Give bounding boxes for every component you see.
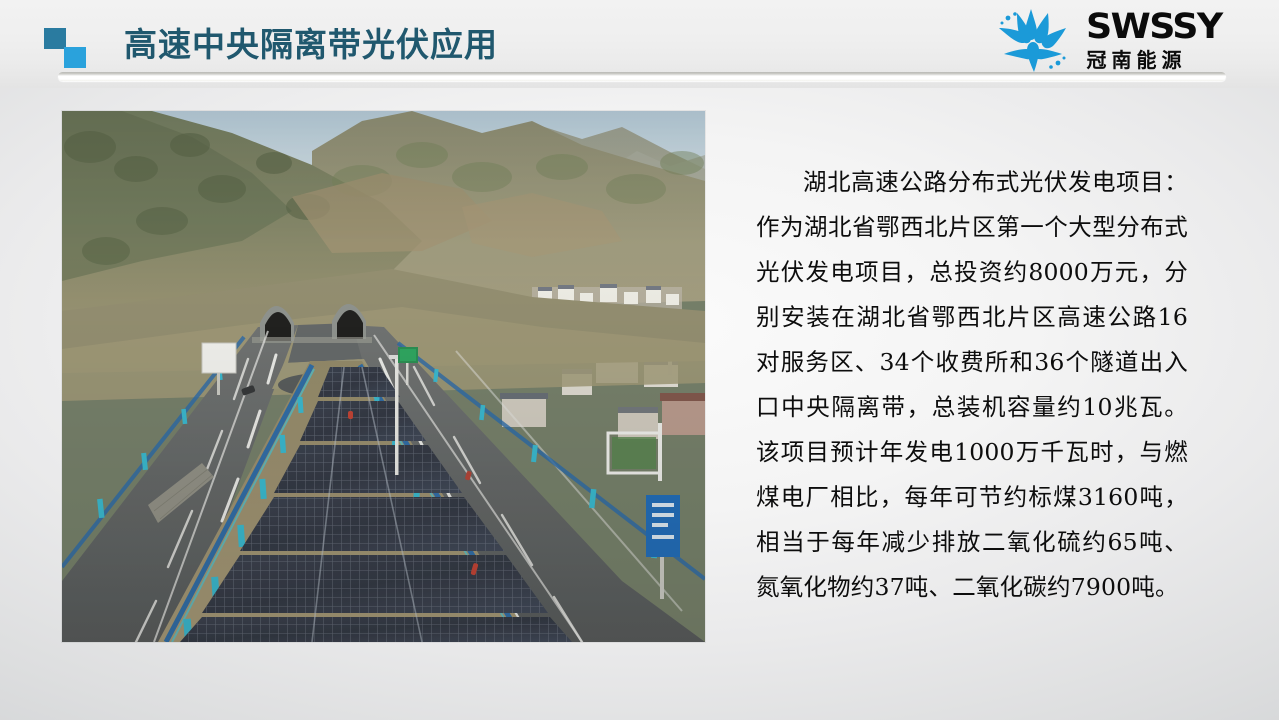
presentation-slide: 高速中央隔离带光伏应用: [0, 0, 1279, 720]
highway-solar-photo-image: [62, 111, 705, 642]
accent-square-dark-icon: [44, 28, 66, 49]
logo-text-block: SWSSY 冠南能源: [1086, 10, 1217, 70]
page-title: 高速中央隔离带光伏应用: [124, 18, 498, 66]
logo-subtitle: 冠南能源: [1086, 50, 1217, 70]
company-logo: SWSSY 冠南能源: [990, 5, 1217, 75]
water-droplet-burst-icon: [990, 6, 1076, 74]
header-accent-squares: [44, 28, 100, 72]
accent-square-light-icon: [64, 47, 86, 68]
highway-solar-photo: [62, 111, 705, 642]
logo-wordmark: SWSSY: [1086, 10, 1222, 45]
slide-header: 高速中央隔离带光伏应用: [0, 0, 1279, 88]
slide-body-paragraph: 湖北高速公路分布式光伏发电项目：作为湖北省鄂西北片区第一个大型分布式光伏发电项目…: [756, 160, 1188, 610]
